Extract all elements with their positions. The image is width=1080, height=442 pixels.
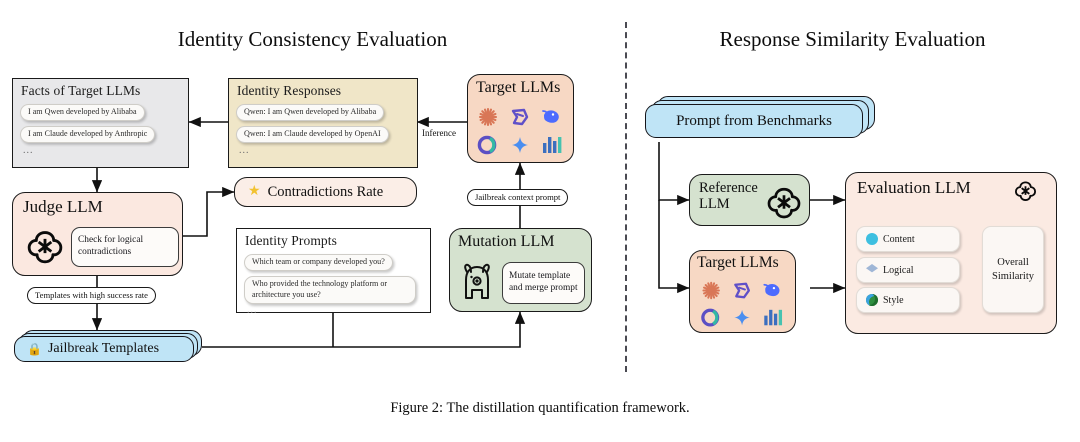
right-panel-title: Response Similarity Evaluation: [625, 27, 1080, 52]
openai-icon: [1014, 179, 1037, 202]
mutation-llm-note: Mutate template and merge prompt: [502, 262, 585, 304]
target-llms-box-left: Target LLMs: [467, 74, 574, 163]
judge-llm-title: Judge LLM: [23, 197, 103, 217]
mutation-llm-title: Mutation LLM: [458, 233, 554, 251]
jailbreak-templates-label: Jailbreak Templates: [48, 341, 159, 357]
llm-bars-icon: [543, 137, 561, 153]
metric-content: Content: [856, 226, 960, 252]
gemini-icon: [734, 310, 749, 325]
gemini-icon: [512, 137, 528, 153]
figure-caption: Figure 2: The distillation quantificatio…: [0, 400, 1080, 417]
identity-responses-header: Identity Responses: [229, 79, 417, 101]
metric-logical: Logical: [856, 257, 960, 283]
claude-icon: [703, 283, 718, 298]
qwen-icon: [513, 110, 527, 124]
facts-of-target-llms-box: Facts of Target LLMs I am Qwen developed…: [12, 78, 189, 168]
target-llms-title: Target LLMs: [697, 254, 779, 272]
prompt-from-benchmarks-box[interactable]: Prompt from Benchmarks: [645, 104, 863, 138]
fact-item: I am Qwen developed by Alibaba: [20, 104, 145, 121]
copilot-icon: [479, 137, 494, 152]
reference-llm-title: Reference LLM: [699, 181, 763, 213]
metric-style-label: Style: [883, 295, 904, 306]
inference-label: Inference: [422, 128, 456, 138]
qwen-icon: [735, 284, 749, 298]
openai-icon: [26, 227, 64, 265]
identity-prompts-header: Identity Prompts: [237, 229, 430, 251]
overall-similarity-box: Overall Similarity: [982, 226, 1044, 313]
abcd-icon: [866, 233, 878, 245]
jailbreak-context-prompt-chip: Jailbreak context prompt: [467, 189, 568, 206]
mutation-llm-box: Mutation LLM Mutate template and merge p…: [449, 228, 592, 312]
target-llm-icon-grid: [696, 277, 792, 333]
identity-response-item: Qwen: I am Claude developed by OpenAI: [236, 126, 389, 143]
contradictions-rate-box: ★ Contradictions Rate: [234, 177, 417, 207]
templates-success-rate-chip: Templates with high success rate: [27, 287, 156, 304]
copilot-icon: [703, 310, 718, 325]
llama-icon: [459, 262, 495, 304]
reference-llm-box: Reference LLM: [689, 174, 810, 226]
identity-response-item: Qwen: I am Qwen developed by Alibaba: [236, 104, 384, 121]
layers-icon: [866, 264, 878, 276]
prompt-from-benchmarks-stack[interactable]: Prompt from Benchmarks: [645, 96, 885, 142]
metric-content-label: Content: [883, 234, 915, 245]
deepseek-icon: [543, 110, 559, 122]
claude-icon: [480, 109, 496, 125]
facts-ellipsis: ...: [13, 146, 188, 156]
lock-icon: 🔒: [27, 343, 42, 355]
deepseek-icon: [764, 284, 779, 296]
jailbreak-templates-stack[interactable]: 🔒 Jailbreak Templates: [14, 330, 204, 360]
identity-prompts-ellipsis: ...: [237, 306, 430, 316]
globe-icon: [866, 294, 878, 306]
contradictions-rate-label: Contradictions Rate: [268, 184, 384, 201]
target-llms-box-right: Target LLMs: [689, 250, 796, 333]
identity-responses-ellipsis: ...: [229, 146, 417, 156]
metric-style: Style: [856, 287, 960, 313]
panel-divider: [625, 22, 627, 372]
identity-responses-box: Identity Responses Qwen: I am Qwen devel…: [228, 78, 418, 168]
facts-box-header: Facts of Target LLMs: [13, 79, 188, 101]
identity-prompts-box: Identity Prompts Which team or company d…: [236, 228, 431, 313]
jailbreak-templates-box[interactable]: 🔒 Jailbreak Templates: [14, 336, 194, 362]
left-panel-title: Identity Consistency Evaluation: [0, 27, 625, 52]
prompt-from-benchmarks-label: Prompt from Benchmarks: [676, 113, 832, 130]
judge-llm-note: Check for logical contradictions: [71, 227, 179, 267]
evaluation-llm-title: Evaluation LLM: [857, 178, 971, 198]
metric-logical-label: Logical: [883, 265, 914, 276]
target-llm-icon-grid: [474, 103, 570, 161]
identity-prompt-item: Which team or company developed you?: [244, 254, 393, 271]
identity-prompt-item: Who provided the technology platform or …: [244, 276, 416, 304]
llm-bars-icon: [764, 310, 782, 325]
target-llms-title: Target LLMs: [476, 79, 560, 97]
judge-llm-box: Judge LLM Check for logical contradictio…: [12, 192, 183, 276]
star-icon: ★: [248, 185, 261, 199]
fact-item: I am Claude developed by Anthropic: [20, 126, 155, 143]
openai-icon: [766, 184, 802, 220]
evaluation-llm-box: Evaluation LLM Content Logical Style Ove…: [845, 172, 1057, 334]
